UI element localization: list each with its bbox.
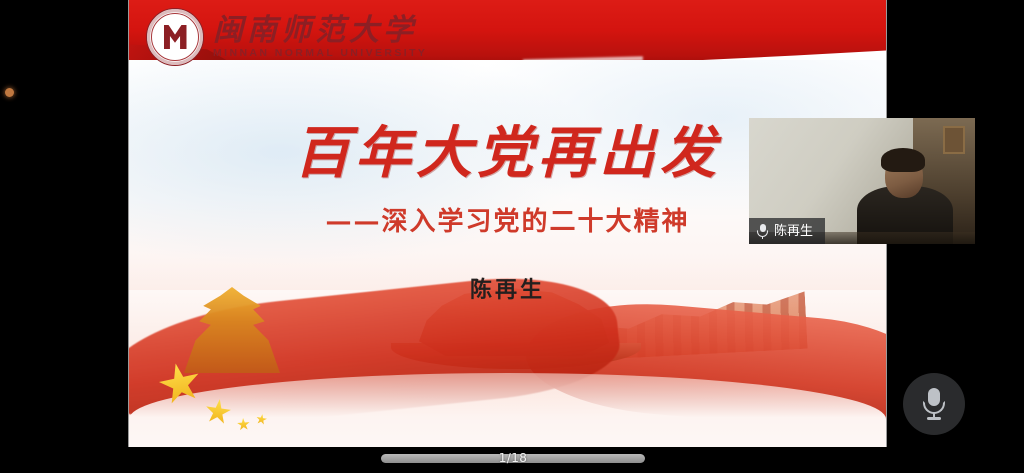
wall-picture-frame xyxy=(943,126,965,154)
mic-toggle-button[interactable] xyxy=(903,373,965,435)
university-name-block: 闽南师范大学 MINNAN NORMAL UNIVERSITY xyxy=(213,16,427,59)
screen-recording-viewport: 闽南师范大学 MINNAN NORMAL UNIVERSITY 百年大党再出发 … xyxy=(0,0,1024,473)
participant-name-label: 陈再生 xyxy=(774,225,813,238)
page-indicator: 1/18 xyxy=(381,451,645,466)
bottom-bar: 1/18 xyxy=(0,447,1024,473)
participant-video-tile[interactable]: 陈再生 xyxy=(749,118,975,244)
participant-name-badge: 陈再生 xyxy=(749,218,825,244)
crest-emblem-mark xyxy=(164,25,187,49)
slide-presenter-name: 陈再生 xyxy=(129,276,886,304)
university-name-cn: 闽南师范大学 xyxy=(213,16,427,46)
university-logo-block: 闽南师范大学 MINNAN NORMAL UNIVERSITY xyxy=(146,8,427,66)
microphone-icon xyxy=(922,388,946,420)
university-name-en: MINNAN NORMAL UNIVERSITY xyxy=(213,47,427,59)
microphone-icon xyxy=(757,224,768,239)
university-crest-icon xyxy=(146,8,204,66)
participant-hair xyxy=(881,148,925,172)
recording-indicator-dot xyxy=(5,88,14,97)
